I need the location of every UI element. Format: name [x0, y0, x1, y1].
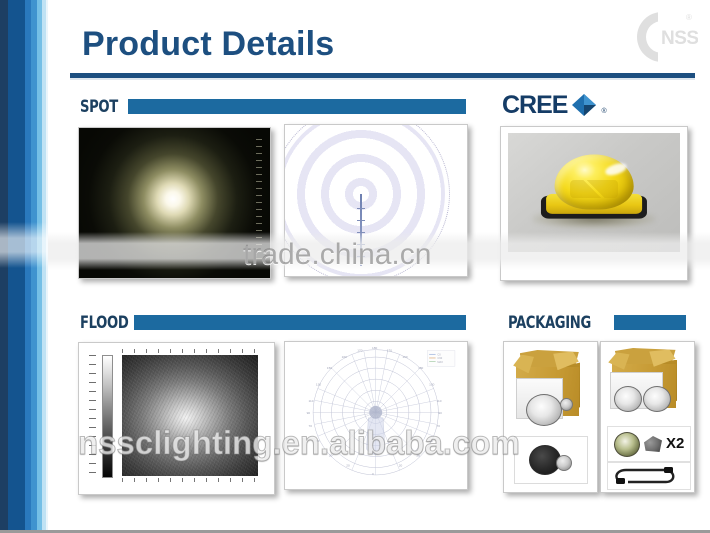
- heatmap-bottom-axis: [122, 478, 259, 482]
- heatmap-colorbar: [102, 355, 113, 478]
- cable-panel: [607, 462, 691, 490]
- cree-registered-mark: ®: [601, 108, 606, 118]
- cree-logo-text: CREE: [502, 91, 567, 120]
- stripe-watermark-wash: [0, 222, 48, 268]
- flood-illuminance-heatmap: [78, 342, 275, 495]
- svg-text:20: 20: [347, 464, 351, 468]
- svg-text:180: 180: [372, 346, 377, 350]
- section-label-spot: SPOT: [80, 97, 118, 117]
- svg-text:70: 70: [437, 424, 441, 428]
- quantity-label: X2: [666, 435, 684, 452]
- svg-text:C90: C90: [438, 356, 443, 360]
- heatmap-top-axis: [122, 349, 259, 353]
- section-bar-spot: [128, 99, 466, 114]
- light-fixture-right: [643, 386, 671, 412]
- light-fixture-in-box: [526, 394, 562, 426]
- accessory-row-panel: X2: [607, 426, 691, 462]
- svg-text:50: 50: [316, 439, 320, 443]
- svg-text:90: 90: [439, 412, 443, 416]
- section-label-flood: FLOOD: [80, 313, 128, 333]
- svg-text:MAX: MAX: [438, 360, 444, 364]
- svg-text:90: 90: [307, 412, 311, 416]
- packaging-double-box-photo: X2: [600, 341, 695, 493]
- svg-text:C0: C0: [438, 353, 442, 357]
- svg-text:110: 110: [437, 400, 442, 404]
- packaging-single-box-photo: [503, 341, 598, 493]
- svg-text:160: 160: [342, 355, 347, 359]
- section-bar-packaging: [614, 315, 686, 330]
- section-bar-flood: [134, 315, 466, 330]
- svg-text:150: 150: [327, 366, 332, 370]
- svg-text:30: 30: [329, 454, 333, 458]
- svg-text:70: 70: [309, 424, 313, 428]
- product-details-slide: Product Details NSS ® SPOT: [0, 0, 710, 533]
- svg-text:150: 150: [418, 366, 423, 370]
- goniometric-legend: C0 C90 MAX: [428, 351, 456, 367]
- led-module-photo: [614, 432, 640, 457]
- mounting-bracket-photo: [642, 436, 662, 452]
- svg-text:20: 20: [399, 464, 403, 468]
- colorbar-tick-labels: [89, 355, 96, 476]
- cree-logo: CREE ®: [502, 92, 607, 118]
- title-underline-shadow: [70, 78, 695, 80]
- svg-text:50: 50: [429, 439, 433, 443]
- accessory-inset-panel: [514, 436, 588, 484]
- section-label-packaging: PACKAGING: [508, 313, 591, 333]
- accessory-item: [560, 398, 573, 411]
- power-cable-photo: [612, 465, 686, 487]
- carton-open-box-double: [605, 348, 687, 420]
- lens-accessory: [556, 455, 572, 471]
- heatmap-noise-texture: [122, 355, 259, 476]
- svg-text:0: 0: [372, 472, 374, 476]
- svg-text:170: 170: [387, 349, 392, 353]
- light-fixture-left: [614, 386, 642, 412]
- goniometric-grid: 180170170 160160 150150 130130 110110 90…: [292, 346, 459, 484]
- led-die-pattern: [570, 180, 618, 198]
- page-title: Product Details: [82, 25, 334, 64]
- svg-text:130: 130: [316, 383, 321, 387]
- cree-diamond-icon: [571, 93, 597, 117]
- heatmap-plot-area: [122, 355, 259, 476]
- svg-text:30: 30: [417, 454, 421, 458]
- flood-goniometric-polar-chart: 180170170 160160 150150 130130 110110 90…: [284, 341, 468, 490]
- watermark-band-top: [48, 232, 710, 270]
- svg-text:130: 130: [429, 383, 434, 387]
- nss-logo-text: NSS: [661, 28, 698, 49]
- nss-logo-watermark: NSS ®: [618, 6, 698, 68]
- svg-text:110: 110: [309, 400, 314, 404]
- svg-text:160: 160: [403, 355, 408, 359]
- registered-mark: ®: [686, 13, 692, 22]
- svg-text:170: 170: [358, 349, 363, 353]
